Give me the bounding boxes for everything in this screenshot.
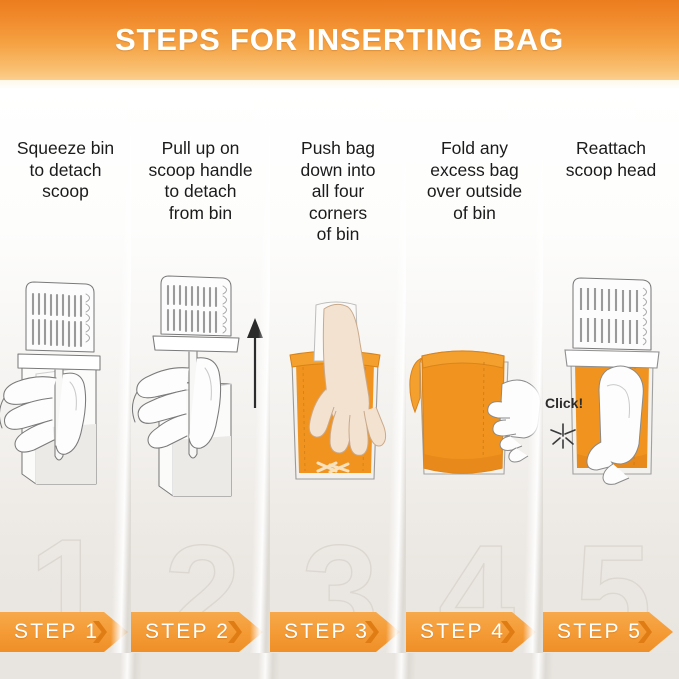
badge-body: STEP 4 [406, 612, 512, 652]
caption-line: of bin [412, 203, 537, 225]
illustration-pull-scoop [131, 278, 270, 518]
badge-label: STEP 2 [131, 620, 230, 644]
badge-arrow-tip [512, 612, 536, 652]
badge-label: STEP 1 [0, 620, 99, 644]
step-caption: Pull up on scoop handle to detach from b… [131, 138, 270, 224]
starburst-icon [551, 424, 575, 448]
step-caption: Fold any excess bag over outside of bin [406, 138, 543, 224]
step-caption: Push bag down into all four corners of b… [270, 138, 406, 246]
caption-line: scoop [6, 181, 125, 203]
step-panel-4: 4 Fold any excess bag over outside of bi… [406, 88, 543, 679]
click-label: Click! [545, 395, 583, 411]
step-badge-5: STEP 5 [543, 612, 679, 652]
step-panel-2: 2 Pull up on scoop handle to detach from… [131, 88, 270, 679]
base-seam [258, 653, 281, 679]
caption-line: Push bag [276, 138, 400, 160]
step-caption: Reattach scoop head [543, 138, 679, 181]
badge-body: STEP 5 [543, 612, 649, 652]
page-title: STEPS FOR INSERTING BAG [115, 22, 564, 58]
illustration-reattach-scoop: Click! [543, 278, 679, 518]
step-badge-1: STEP 1 [0, 612, 131, 652]
badge-body: STEP 2 [131, 612, 239, 652]
illustration-push-bag [270, 303, 406, 503]
steps-strip: 1 Squeeze bin to detach scoop [0, 88, 679, 679]
badge-arrow-tip [104, 612, 128, 652]
caption-line: of bin [276, 224, 400, 246]
badge-label: STEP 5 [543, 620, 642, 644]
step-caption: Squeeze bin to detach scoop [0, 138, 131, 203]
badge-body: STEP 3 [270, 612, 376, 652]
caption-line: over outside [412, 181, 537, 203]
step-panel-3: 3 Push bag down into all four corners of… [270, 88, 406, 679]
step-badge-2: STEP 2 [131, 612, 270, 652]
badge-label: STEP 3 [270, 620, 369, 644]
base-strip [0, 653, 679, 679]
caption-line: Reattach [549, 138, 673, 160]
badge-arrow-tip [649, 612, 673, 652]
caption-line: down into [276, 160, 400, 182]
step-panel-5: 5 Reattach scoop head [543, 88, 679, 679]
caption-line: scoop handle [137, 160, 264, 182]
caption-line: Fold any [412, 138, 537, 160]
badge-body: STEP 1 [0, 612, 104, 652]
up-arrow-icon [247, 318, 263, 408]
badge-label: STEP 4 [406, 620, 505, 644]
infographic-page: STEPS FOR INSERTING BAG 1 Squeeze bin to… [0, 0, 679, 679]
base-seam [531, 653, 554, 679]
caption-line: Squeeze bin [6, 138, 125, 160]
caption-line: from bin [137, 203, 264, 225]
illustration-fold-bag [406, 328, 543, 508]
step-badge-4: STEP 4 [406, 612, 543, 652]
caption-line: to detach [137, 181, 264, 203]
step-panel-1: 1 Squeeze bin to detach scoop [0, 88, 131, 679]
badge-arrow-tip [239, 612, 263, 652]
step-badge-3: STEP 3 [270, 612, 406, 652]
badge-arrow-tip [376, 612, 400, 652]
base-seam [120, 653, 143, 679]
header-banner: STEPS FOR INSERTING BAG [0, 0, 679, 80]
caption-line: Pull up on [137, 138, 264, 160]
caption-line: to detach [6, 160, 125, 182]
caption-line: corners [276, 203, 400, 225]
caption-line: excess bag [412, 160, 537, 182]
caption-line: all four [276, 181, 400, 203]
base-seam [394, 653, 417, 679]
illustration-squeeze-bin [0, 278, 131, 508]
caption-line: scoop head [549, 160, 673, 182]
